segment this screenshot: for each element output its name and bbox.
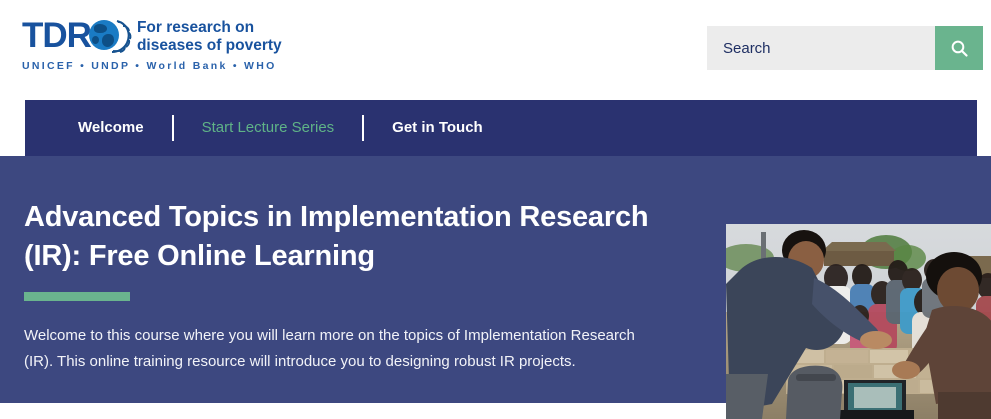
hero-banner: Advanced Topics in Implementation Resear…: [0, 156, 991, 403]
hero-photo: [726, 224, 991, 419]
hero-text-block: Advanced Topics in Implementation Resear…: [24, 198, 669, 390]
hero-description: Welcome to this course where you will le…: [24, 323, 654, 375]
search-icon: [950, 39, 969, 58]
search-input[interactable]: [707, 26, 935, 70]
title-accent-rule: [24, 292, 130, 301]
page-title: Advanced Topics in Implementation Resear…: [24, 198, 669, 276]
logo-tagline-line1: For research on: [137, 19, 282, 37]
logo-tagline-line2: diseases of poverty: [137, 37, 282, 55]
nav-item-start-lecture-series[interactable]: Start Lecture Series: [174, 100, 363, 156]
logo-top-row: TDR For res: [22, 18, 282, 55]
nav-item-get-in-touch[interactable]: Get in Touch: [364, 100, 511, 156]
logo-tagline: For research on diseases of poverty: [137, 18, 282, 55]
search-bar: [707, 26, 983, 70]
search-button[interactable]: [935, 26, 983, 70]
logo-mark: TDR: [22, 18, 133, 54]
site-header: TDR For res: [0, 0, 991, 100]
tdr-logo[interactable]: TDR For res: [22, 18, 282, 72]
main-navigation: Welcome Start Lecture Series Get in Touc…: [25, 100, 977, 156]
laurel-wreath-icon: [87, 18, 133, 54]
nav-item-welcome[interactable]: Welcome: [50, 100, 172, 156]
globe-icon: [87, 18, 133, 54]
logo-wordmark: TDR: [22, 19, 91, 53]
hero-image: [726, 224, 991, 419]
nav-list: Welcome Start Lecture Series Get in Touc…: [25, 100, 511, 156]
logo-partners: UNICEF • UNDP • World Bank • WHO: [22, 60, 282, 72]
